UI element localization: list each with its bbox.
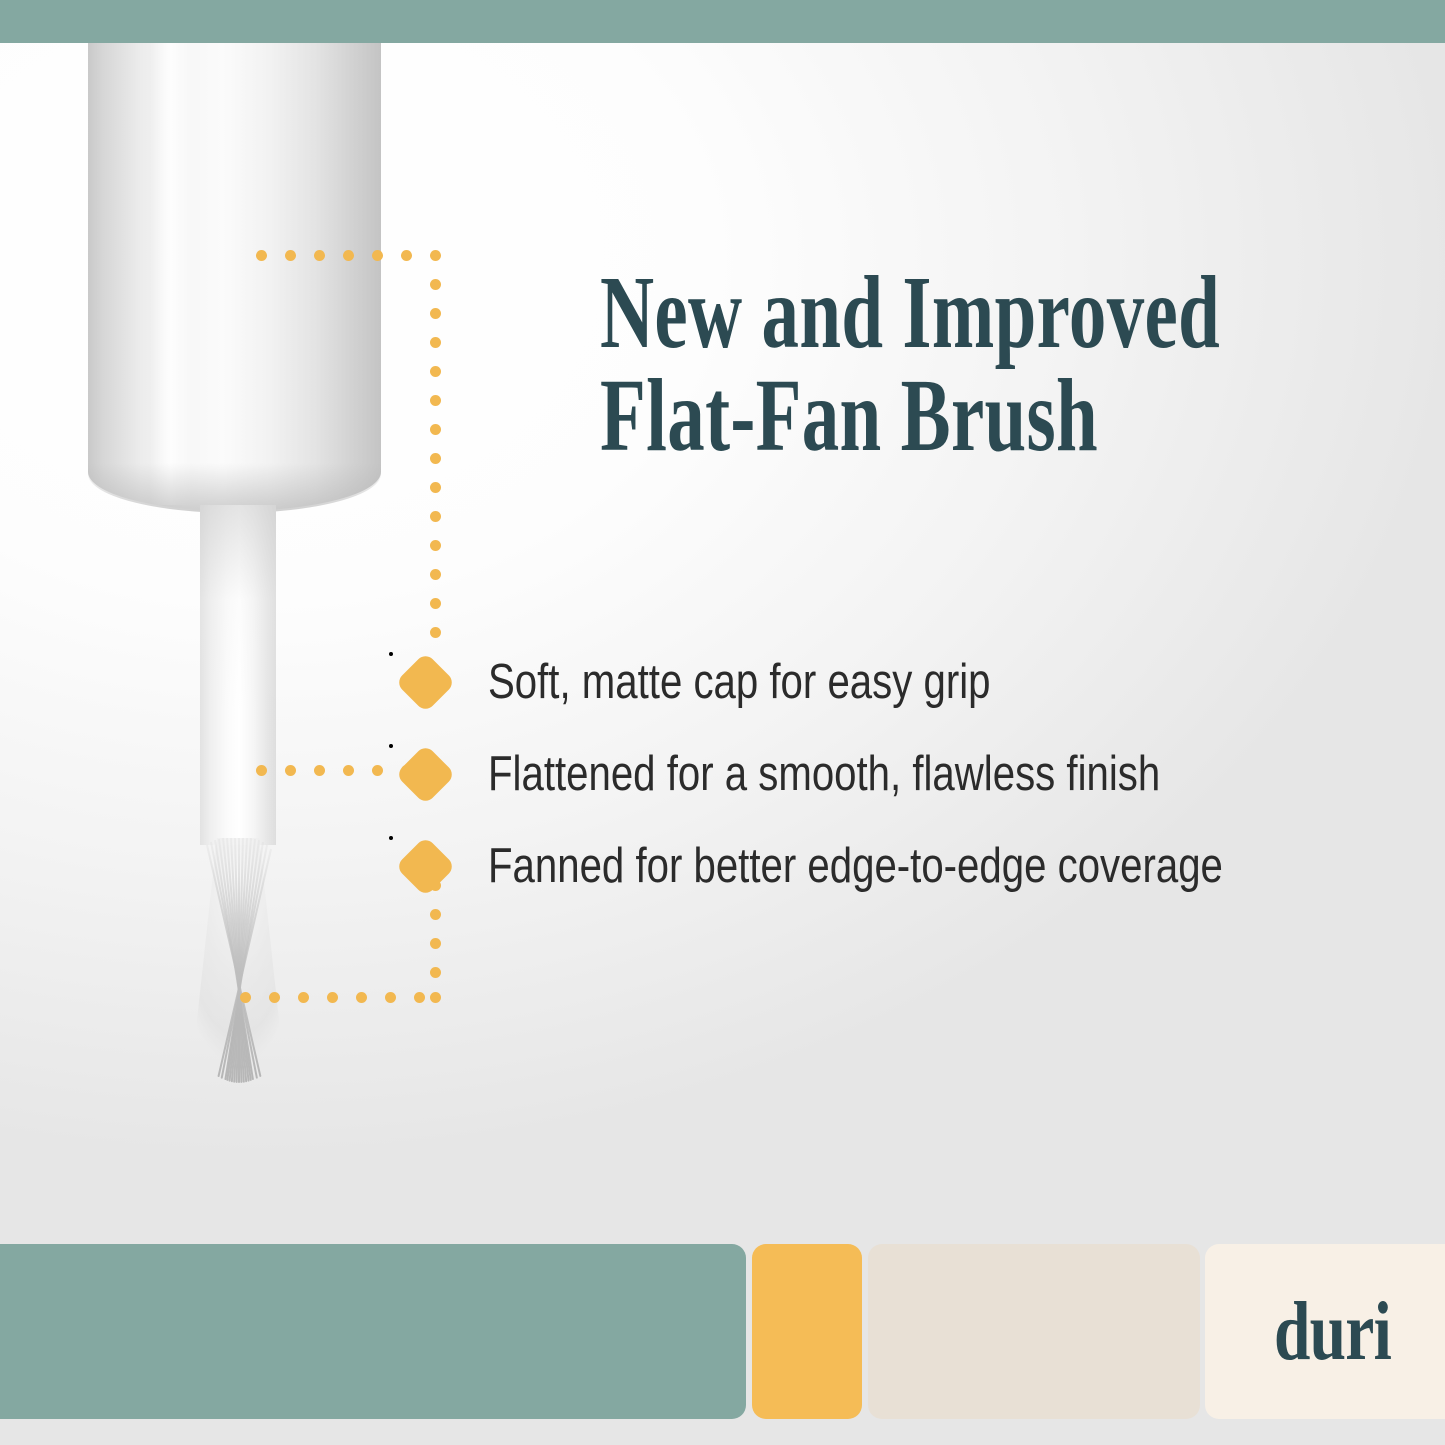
leader-dot [430,482,441,493]
leader-dot [298,992,309,1003]
brush-stem-shading [200,505,276,845]
leader-dot [430,598,441,609]
leader-dot [343,250,354,261]
leader-dot [430,453,441,464]
leader-dot [285,765,296,776]
leader-dot [385,992,396,1003]
leader-dot [372,765,383,776]
leader-dot [314,250,325,261]
leader-dot [372,250,383,261]
leader-dot [430,627,441,638]
leader-dot [240,992,251,1003]
product-image [0,43,520,1083]
cap-highlight [150,43,192,505]
leader-dot [430,395,441,406]
product-feature-graphic: New and Improved Flat-Fan Brush Soft, ma… [0,0,1445,1445]
list-item: Soft, matte cap for easy grip [404,645,1404,737]
leader-dot [401,250,412,261]
list-item: Flattened for a smooth, flawless finish [404,737,1404,829]
leader-dot [256,765,267,776]
leader-dot [269,992,280,1003]
diamond-bullet-icon [395,744,456,805]
leader-dot [430,992,441,1003]
nail-polish-cap-icon [88,43,381,511]
leader-dot [356,992,367,1003]
leader-dot [327,992,338,1003]
page-title: New and Improved Flat-Fan Brush [600,262,1118,468]
flat-fan-bristles [176,838,300,1083]
beige-swatch [868,1244,1200,1419]
leader-dot [414,992,425,1003]
leader-dot [430,308,441,319]
leader-dot [430,250,441,261]
leader-dot [285,250,296,261]
leader-dot [430,938,441,949]
leader-dot [430,337,441,348]
sage-swatch [0,1244,746,1419]
list-item: Fanned for better edge-to-edge coverage [404,829,1404,921]
diamond-bullet-icon [395,836,456,897]
leader-dot [430,540,441,551]
top-accent-bar [0,0,1445,43]
amber-swatch [752,1244,862,1419]
brand-logo: duri [1233,1244,1432,1419]
leader-dot [256,250,267,261]
title-line-2: Flat-Fan Brush [600,365,1118,468]
leader-dot [430,967,441,978]
feature-label: Soft, matte cap for easy grip [488,645,990,719]
feature-label: Fanned for better edge-to-edge coverage [488,829,1223,903]
diamond-bullet-icon [395,652,456,713]
leader-dot [430,366,441,377]
leader-dot [430,424,441,435]
leader-dot [314,765,325,776]
feature-list: Soft, matte cap for easy grip Flattened … [404,645,1404,921]
leader-dot [430,569,441,580]
leader-dot [430,279,441,290]
leader-dot [343,765,354,776]
feature-label: Flattened for a smooth, flawless finish [488,737,1160,811]
footer-swatch-bar: duri [0,1244,1445,1445]
leader-dot [430,511,441,522]
title-line-1: New and Improved [600,262,1118,365]
